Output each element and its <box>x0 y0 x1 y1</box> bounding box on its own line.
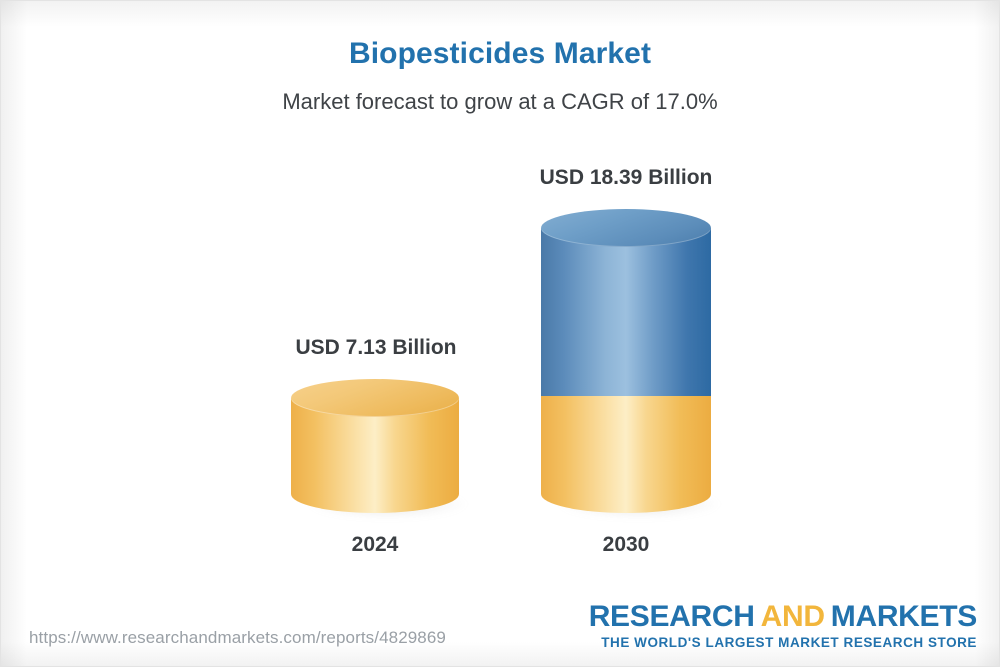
source-url[interactable]: https://www.researchandmarkets.com/repor… <box>29 628 446 648</box>
value-label-2030: USD 18.39 Billion <box>506 166 746 190</box>
research-and-markets-logo[interactable]: RESEARCHANDMARKETS THE WORLD'S LARGEST M… <box>589 602 977 650</box>
logo-tagline: THE WORLD'S LARGEST MARKET RESEARCH STOR… <box>589 635 977 650</box>
logo-word-and: AND <box>761 600 825 633</box>
value-label-2024: USD 7.13 Billion <box>256 336 496 360</box>
chart-plot-area: USD 7.13 Billion 2024 USD 18.39 Billion … <box>1 1 1000 667</box>
bar-segment-base-body-2030 <box>541 396 711 494</box>
bar-cylinder-2030[interactable] <box>541 209 711 513</box>
logo-word-research: RESEARCH <box>589 600 755 633</box>
chart-canvas: Biopesticides Market Market forecast to … <box>0 0 1000 667</box>
logo-wordmark: RESEARCHANDMARKETS <box>589 602 977 632</box>
bar-segment-base-2030 <box>541 396 711 513</box>
category-label-2030: 2030 <box>506 533 746 557</box>
category-label-2024: 2024 <box>255 533 495 557</box>
bar-segment-growth-2030 <box>541 228 711 396</box>
bar-cylinder-2024[interactable] <box>291 379 459 513</box>
bar-top-cap-2024 <box>291 379 459 417</box>
bar-top-cap-2030 <box>541 209 711 247</box>
logo-word-markets: MARKETS <box>831 600 977 633</box>
